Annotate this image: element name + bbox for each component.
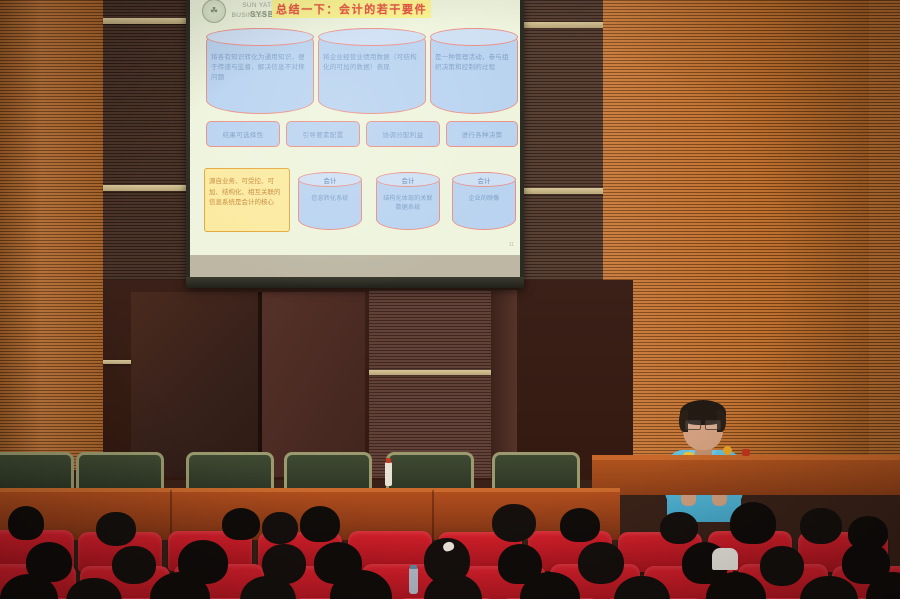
lecture-hall-photo: ☘ SUN YAT-SEN BUSINESS SCHOOL SYSBS 总结一下… <box>0 0 900 599</box>
water-bottle-cap <box>386 458 391 463</box>
stage-chair <box>0 452 74 493</box>
stage-wall-trim-left <box>103 360 131 364</box>
audience-head <box>660 512 698 544</box>
slide-box-1-text: 结果可选择性 <box>223 129 264 139</box>
slide-box-4-text: 进行各种决策 <box>462 129 503 139</box>
stage-wall-panel-right <box>369 290 491 478</box>
water-bottle-cap <box>410 565 417 569</box>
audience-head <box>800 508 842 544</box>
slide-box-4: 进行各种决策 <box>446 121 518 147</box>
audience-head <box>760 546 804 586</box>
audience-head <box>262 512 298 544</box>
auditorium-barrier-top-edge <box>0 488 620 492</box>
slide-cylinder-bottom-3-label: 会计 <box>453 175 515 185</box>
projection-screen-surface: ☘ SUN YAT-SEN BUSINESS SCHOOL SYSBS 总结一下… <box>190 0 520 275</box>
wall-trim-lower-right <box>516 188 606 194</box>
slide-summary-box: 源自业务、可受控、可加、结构化、相互关联的信息系统是会计的核心 <box>204 168 290 232</box>
audience-head <box>578 542 624 584</box>
audience-head <box>492 504 536 542</box>
slide-summary-box-text: 源自业务、可受控、可加、结构化、相互关联的信息系统是会计的核心 <box>209 177 285 209</box>
slide-cylinder-top-2-text: 将企业经营业绩用数据（可结构化的可加的数据）表现 <box>323 53 421 73</box>
slide-cylinder-bottom-1-text: 信息转化系统 <box>303 195 357 204</box>
slide-cylinder-bottom-2-text: 结构化体现的关联数据系统 <box>381 195 435 213</box>
stage-chair <box>386 452 474 493</box>
slide-box-3-text: 协调分配利益 <box>383 129 424 139</box>
stage-wall-panel-far-right <box>491 290 517 478</box>
wall-trim-upper-right <box>516 22 606 28</box>
slide-box-1: 结果可选择性 <box>206 121 280 147</box>
stage-chair <box>284 452 372 493</box>
slide-cylinder-bottom-3: 会计 企业的映像 <box>452 172 516 230</box>
left-wall-slat-panel <box>0 0 103 470</box>
stage-chair <box>492 452 580 493</box>
audience-head <box>222 508 260 540</box>
red-object <box>742 449 750 456</box>
slide-cylinder-top-1: 将各有知识转化为通用知识，便于传递与监督，解决信息不对称问题 <box>206 28 314 114</box>
water-bottle-in-audience <box>409 568 418 594</box>
slide-box-3: 协调分配利益 <box>366 121 440 147</box>
right-wall-edge-panel <box>869 0 900 470</box>
emblem-glyph: ☘ <box>210 7 218 16</box>
slide-cylinder-top-3-text: 是一种管理活动，参与组织决策和控制的过程 <box>435 53 513 73</box>
slide-cylinder-bottom-1: 会计 信息转化系统 <box>298 172 362 230</box>
stage-chair <box>76 452 164 493</box>
audience-head <box>8 506 44 540</box>
stage-wall-panel-left <box>131 292 258 477</box>
audience-head <box>730 502 776 544</box>
stage-wall-panel-center <box>262 292 365 477</box>
stage-desk <box>592 455 900 495</box>
slide-cylinder-bottom-2-label: 会计 <box>377 175 439 185</box>
slide-cylinder-bottom-2: 会计 结构化体现的关联数据系统 <box>376 172 440 230</box>
slide-cylinder-top-2: 将企业经营业绩用数据（可结构化的可加的数据）表现 <box>318 28 426 114</box>
yellow-round-object <box>723 446 732 455</box>
slide-cylinder-bottom-3-text: 企业的映像 <box>457 195 511 204</box>
stage-chair <box>186 452 274 493</box>
eyeglasses-icon <box>685 420 721 428</box>
wall-trim-lower-left <box>103 185 191 191</box>
slide-title: 总结一下：会计的若干要件 <box>272 0 431 18</box>
audience-head <box>560 508 600 542</box>
audience-white-garment <box>712 548 738 570</box>
slide-page-number: 11 <box>509 242 514 248</box>
projection-screen-lower-band <box>190 255 520 277</box>
audience-head <box>96 512 136 546</box>
slide-box-2-text: 引导要素配置 <box>303 129 344 139</box>
university-emblem-icon: ☘ <box>202 0 226 23</box>
audience-head <box>112 546 156 584</box>
presentation-slide: ☘ SUN YAT-SEN BUSINESS SCHOOL SYSBS 总结一下… <box>190 0 520 253</box>
slide-box-2: 引导要素配置 <box>286 121 360 147</box>
audience-head <box>300 506 340 542</box>
slide-cylinder-top-3: 是一种管理活动，参与组织决策和控制的过程 <box>430 28 518 114</box>
stage-wall-trim <box>369 370 491 375</box>
slide-cylinder-bottom-1-label: 会计 <box>299 175 361 185</box>
right-wall-slat-panel <box>603 0 900 455</box>
slide-cylinder-top-1-text: 将各有知识转化为通用知识，便于传递与监督，解决信息不对称问题 <box>211 53 309 83</box>
wall-trim-upper-left <box>103 18 191 24</box>
water-bottle-on-ledge <box>385 462 392 486</box>
